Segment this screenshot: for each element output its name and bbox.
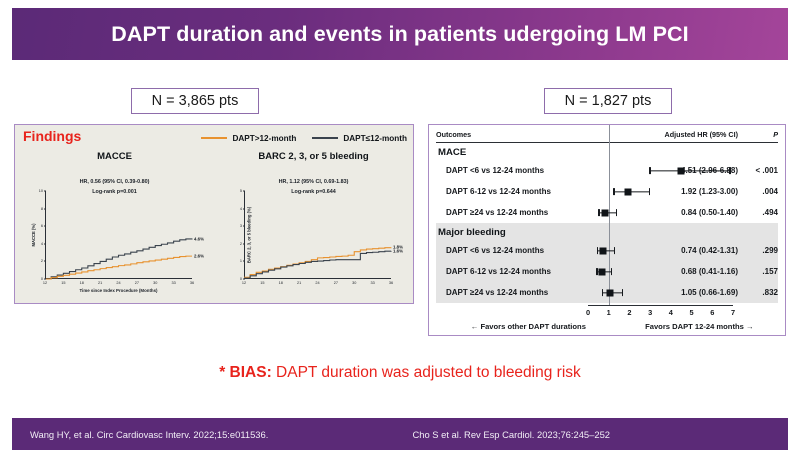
forest-row-pvalue: .004 <box>744 187 778 196</box>
forest-row-pvalue: < .001 <box>744 166 778 175</box>
forest-row-pvalue: .832 <box>744 288 778 297</box>
forest-row-pvalue: .299 <box>744 246 778 255</box>
km-xtick: 18 <box>80 281 84 285</box>
badge-sample-size-right: N = 1,827 pts <box>544 88 672 114</box>
km-xtick: 18 <box>279 281 283 285</box>
km-plot-area-barc: BARC 2, 3, or 5 bleeding (%) 1.8%1.6%012… <box>244 191 391 279</box>
km-endpoint-label: 1.6% <box>393 248 403 253</box>
km-ytick: 6 <box>41 224 43 228</box>
forest-row-pvalue: .494 <box>744 208 778 217</box>
km-xtick: 30 <box>153 281 157 285</box>
bias-note: * BIAS: DAPT duration was adjusted to bl… <box>0 364 800 382</box>
forest-row-pvalue: .157 <box>744 267 778 276</box>
forest-axis-line <box>588 305 733 306</box>
forest-row-plot-cell <box>588 202 636 223</box>
km-xtick: 12 <box>242 281 246 285</box>
forest-row-label: DAPT <6 vs 12-24 months <box>436 166 588 175</box>
forest-row-plot-cell <box>588 181 636 202</box>
km-xtick: 27 <box>135 281 139 285</box>
line-swatch-orange-icon <box>201 137 227 140</box>
km-chart-macce: MACCE HR, 0.56 (95% CI, 0.39-0.80) Log-r… <box>15 147 214 305</box>
forest-axis-tick: 4 <box>669 308 673 317</box>
km-xtick: 27 <box>334 281 338 285</box>
km-ytick: 4 <box>41 242 43 246</box>
km-ytick: 3 <box>240 224 242 228</box>
forest-table-header: Outcomes Adjusted HR (95% CI) P <box>436 130 778 143</box>
forest-row-plot-cell <box>588 282 636 303</box>
table-row: DAPT <6 vs 12-24 months0.74 (0.42-1.31).… <box>436 240 778 261</box>
km-ytick: 2 <box>41 259 43 263</box>
column-header-outcomes: Outcomes <box>436 130 588 139</box>
forest-row-hr: 4.51 (2.96-6.88) <box>636 166 744 175</box>
forest-row-hr: 0.84 (0.50-1.40) <box>636 208 744 217</box>
forest-row-plot-cell <box>588 160 636 181</box>
column-header-p: P <box>744 130 778 139</box>
forest-row-label: DAPT 6-12 vs 12-24 months <box>436 187 588 196</box>
km-xtick: 21 <box>98 281 102 285</box>
forest-axis-tick: 1 <box>607 308 611 317</box>
km-xlabel-macce: Time since Index Procedure (Months) <box>45 288 192 293</box>
km-ytick: 5 <box>240 189 242 193</box>
km-series-dapt-12-month <box>244 251 391 278</box>
table-row: DAPT 6-12 vs 12-24 months0.68 (0.41-1.16… <box>436 261 778 282</box>
km-xtick: 21 <box>297 281 301 285</box>
slide-root: DAPT duration and events in patients ude… <box>0 0 800 450</box>
bias-label: * BIAS: <box>219 364 272 381</box>
km-endpoint-label: 2.6% <box>194 254 204 259</box>
km-xtick: 15 <box>260 281 264 285</box>
km-title-macce: MACCE <box>15 151 214 162</box>
forest-section-title: MACE <box>436 143 778 160</box>
legend-label-dapt-gt12: DAPT>12-month <box>232 134 296 143</box>
column-header-hr: Adjusted HR (95% CI) <box>636 130 744 139</box>
forest-section-major-bleeding: Major bleedingDAPT <6 vs 12-24 months0.7… <box>436 223 778 303</box>
km-xtick: 24 <box>315 281 319 285</box>
forest-row-hr: 0.68 (0.41-1.16) <box>636 267 744 276</box>
forest-axis-tick: 7 <box>731 308 735 317</box>
km-ytick: 8 <box>41 207 43 211</box>
km-xtick: 24 <box>116 281 120 285</box>
forest-note-left: ← Favors other DAPT durations <box>436 322 621 331</box>
badge-sample-size-left: N = 3,865 pts <box>131 88 259 114</box>
forest-axis-tick: 0 <box>586 308 590 317</box>
forest-axis: 01234567 <box>588 308 733 322</box>
forest-row-plot-cell <box>588 240 636 261</box>
line-swatch-dark-icon <box>312 137 338 140</box>
table-row: DAPT 6-12 vs 12-24 months1.92 (1.23-3.00… <box>436 181 778 202</box>
km-xtick: 15 <box>61 281 65 285</box>
km-ytick: 10 <box>39 189 43 193</box>
findings-label: Findings <box>23 128 81 144</box>
km-hr-barc: HR, 1.12 (95% CI, 0.69-1.83) <box>214 177 413 187</box>
km-charts-row: MACCE HR, 0.56 (95% CI, 0.39-0.80) Log-r… <box>15 147 413 305</box>
forest-plot-inner: Outcomes Adjusted HR (95% CI) P MACEDAPT… <box>429 125 785 335</box>
km-xtick: 36 <box>190 281 194 285</box>
km-title-barc: BARC 2, 3, or 5 bleeding <box>214 151 413 162</box>
forest-axis-tick: 6 <box>710 308 714 317</box>
forest-row-label: DAPT <6 vs 12-24 months <box>436 246 588 255</box>
forest-row-label: DAPT ≥24 vs 12-24 months <box>436 208 588 217</box>
km-curves-barc <box>244 191 391 279</box>
legend-item-dapt-le12: DAPT≤12-month <box>312 134 407 143</box>
forest-row-hr: 1.05 (0.66-1.69) <box>636 288 744 297</box>
km-figure-panel: Findings DAPT>12-month DAPT≤12-month MAC… <box>14 124 414 304</box>
km-xtick: 36 <box>389 281 393 285</box>
table-row: DAPT ≥24 vs 12-24 months1.05 (0.66-1.69)… <box>436 282 778 303</box>
forest-axis-tick: 3 <box>648 308 652 317</box>
km-xtick: 30 <box>352 281 356 285</box>
bias-text: DAPT duration was adjusted to bleeding r… <box>272 364 581 381</box>
legend-label-dapt-le12: DAPT≤12-month <box>343 134 407 143</box>
forest-section-title: Major bleeding <box>436 223 778 240</box>
km-ytick: 2 <box>240 242 242 246</box>
km-plot-area-macce: MACCE (%) Time since Index Procedure (Mo… <box>45 191 192 279</box>
forest-row-label: DAPT 6-12 vs 12-24 months <box>436 267 588 276</box>
forest-note-right: Favors DAPT 12-24 months → <box>621 322 778 331</box>
km-ytick: 4 <box>240 207 242 211</box>
table-row: DAPT <6 vs 12-24 months4.51 (2.96-6.88)<… <box>436 160 778 181</box>
slide-footer-band: Wang HY, et al. Circ Cardiovasc Interv. … <box>12 418 788 450</box>
km-curves-macce <box>45 191 192 279</box>
table-row: DAPT ≥24 vs 12-24 months0.84 (0.50-1.40)… <box>436 202 778 223</box>
forest-axis-notes: ← Favors other DAPT durations Favors DAP… <box>436 322 778 331</box>
km-series-dapt-12-month <box>45 256 192 279</box>
forest-row-hr: 1.92 (1.23-3.00) <box>636 187 744 196</box>
km-ytick: 1 <box>240 259 242 263</box>
km-chart-barc: BARC 2, 3, or 5 bleeding HR, 1.12 (95% C… <box>214 147 413 305</box>
forest-row-plot-cell <box>588 261 636 282</box>
km-xtick: 33 <box>371 281 375 285</box>
citation-left: Wang HY, et al. Circ Cardiovasc Interv. … <box>30 429 268 440</box>
km-series-dapt-12-month <box>244 247 391 277</box>
slide-title-band: DAPT duration and events in patients ude… <box>12 8 788 60</box>
forest-plot-panel: Outcomes Adjusted HR (95% CI) P MACEDAPT… <box>428 124 786 336</box>
forest-section-mace: MACEDAPT <6 vs 12-24 months4.51 (2.96-6.… <box>436 143 778 223</box>
km-endpoint-label: 4.6% <box>194 236 204 241</box>
legend-item-dapt-gt12: DAPT>12-month <box>201 134 296 143</box>
km-xtick: 33 <box>172 281 176 285</box>
km-hr-macce: HR, 0.56 (95% CI, 0.39-0.80) <box>15 177 214 187</box>
forest-axis-tick: 5 <box>690 308 694 317</box>
km-xtick: 12 <box>43 281 47 285</box>
citation-right: Cho S et al. Rev Esp Cardiol. 2023;76:24… <box>412 429 610 440</box>
km-legend: DAPT>12-month DAPT≤12-month <box>191 130 407 146</box>
page-title: DAPT duration and events in patients ude… <box>111 22 688 47</box>
forest-axis-tick: 2 <box>627 308 631 317</box>
km-ylabel-macce: MACCE (%) <box>31 223 36 246</box>
forest-table-body: MACEDAPT <6 vs 12-24 months4.51 (2.96-6.… <box>436 143 778 303</box>
forest-row-hr: 0.74 (0.42-1.31) <box>636 246 744 255</box>
forest-row-label: DAPT ≥24 vs 12-24 months <box>436 288 588 297</box>
